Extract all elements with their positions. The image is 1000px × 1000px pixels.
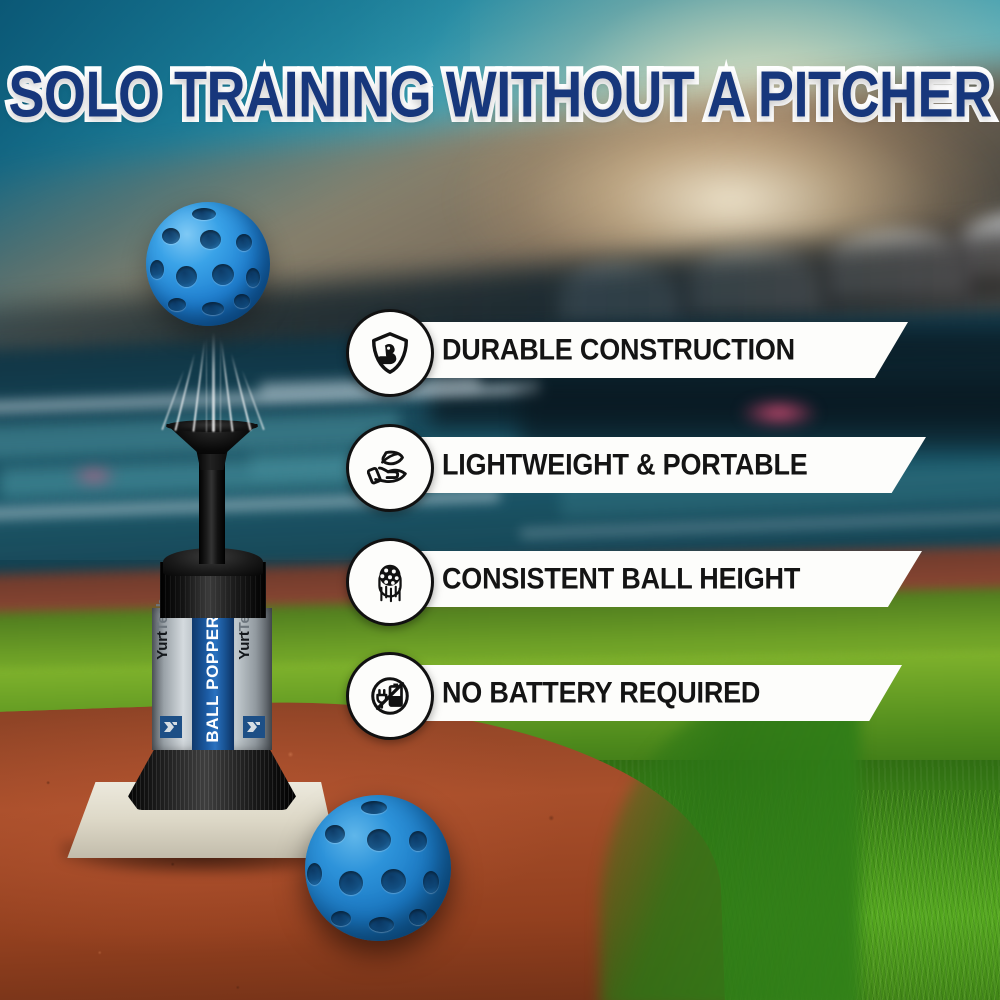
- ball-hole: [150, 260, 164, 279]
- feature-item-consistent-ball-height[interactable]: CONSISTENT BALL HEIGHT: [346, 551, 918, 607]
- ball-hole: [234, 294, 250, 308]
- ball-hole: [361, 801, 387, 814]
- feature-item-no-battery-required[interactable]: NO BATTERY REQUIRED: [346, 665, 898, 721]
- product-name-label: BALL POPPER: [192, 608, 234, 750]
- launcher-base-collar: [128, 748, 296, 810]
- brand-part-1: Yurt: [154, 631, 171, 659]
- hand-leaf-icon: [346, 424, 434, 512]
- motion-streak: [174, 353, 195, 431]
- ball-hole: [367, 829, 391, 851]
- ball-hole: [162, 228, 180, 244]
- stadium-signage: [72, 466, 116, 486]
- brand-logo-icon: [243, 716, 265, 738]
- page-title: SOLO TRAINING WITHOUT A PITCHER: [0, 58, 1000, 132]
- ball-hole: [176, 266, 197, 287]
- feature-item-lightweight-portable[interactable]: LIGHTWEIGHT & PORTABLE: [346, 437, 922, 493]
- ball-hole: [381, 869, 406, 893]
- feature-banner[interactable]: DURABLE CONSTRUCTION: [398, 322, 908, 378]
- feature-label: LIGHTWEIGHT & PORTABLE: [442, 448, 808, 481]
- motion-streak: [241, 370, 265, 431]
- feature-banner[interactable]: NO BATTERY REQUIRED: [398, 665, 902, 721]
- no-battery-icon: [346, 652, 434, 740]
- ball-hole: [369, 917, 394, 932]
- ball-hole: [409, 909, 427, 925]
- practice-ball-airborne: [146, 202, 270, 326]
- brand-logo-icon: [160, 716, 182, 738]
- ball-hole: [246, 268, 260, 287]
- feature-item-durable-construction[interactable]: DURABLE CONSTRUCTION: [346, 322, 908, 378]
- brand-part-1: Yurt: [236, 631, 253, 659]
- shield-bicep-icon: [346, 309, 434, 397]
- motion-streak: [206, 336, 207, 432]
- ball-hole: [202, 302, 224, 315]
- launching-ball-icon: [346, 538, 434, 626]
- ball-hole: [325, 825, 345, 843]
- ball-hole: [192, 208, 216, 220]
- ball-hole: [236, 234, 252, 251]
- product-feature-image: SOLO TRAINING WITHOUT A PITCHER YurtTech…: [0, 0, 1000, 1000]
- ball-hole: [331, 911, 351, 926]
- motion-streak: [212, 332, 215, 432]
- ball-hole: [339, 871, 363, 895]
- feature-banner[interactable]: CONSISTENT BALL HEIGHT: [398, 551, 922, 607]
- ball-hole: [423, 871, 439, 893]
- ball-hole: [409, 831, 427, 851]
- feature-banner[interactable]: LIGHTWEIGHT & PORTABLE: [398, 437, 926, 493]
- practice-ball-ground: [305, 795, 451, 941]
- ball-hole: [200, 230, 221, 249]
- feature-label: CONSISTENT BALL HEIGHT: [442, 562, 800, 595]
- feature-label: DURABLE CONSTRUCTION: [442, 333, 795, 366]
- ball-motion-trail: [160, 330, 270, 434]
- feature-label: NO BATTERY REQUIRED: [442, 676, 760, 709]
- stadium-signage: [742, 400, 816, 426]
- ball-hole: [307, 863, 322, 885]
- ball-hole: [212, 264, 234, 285]
- motion-streak: [220, 336, 221, 432]
- ball-hole: [168, 298, 186, 311]
